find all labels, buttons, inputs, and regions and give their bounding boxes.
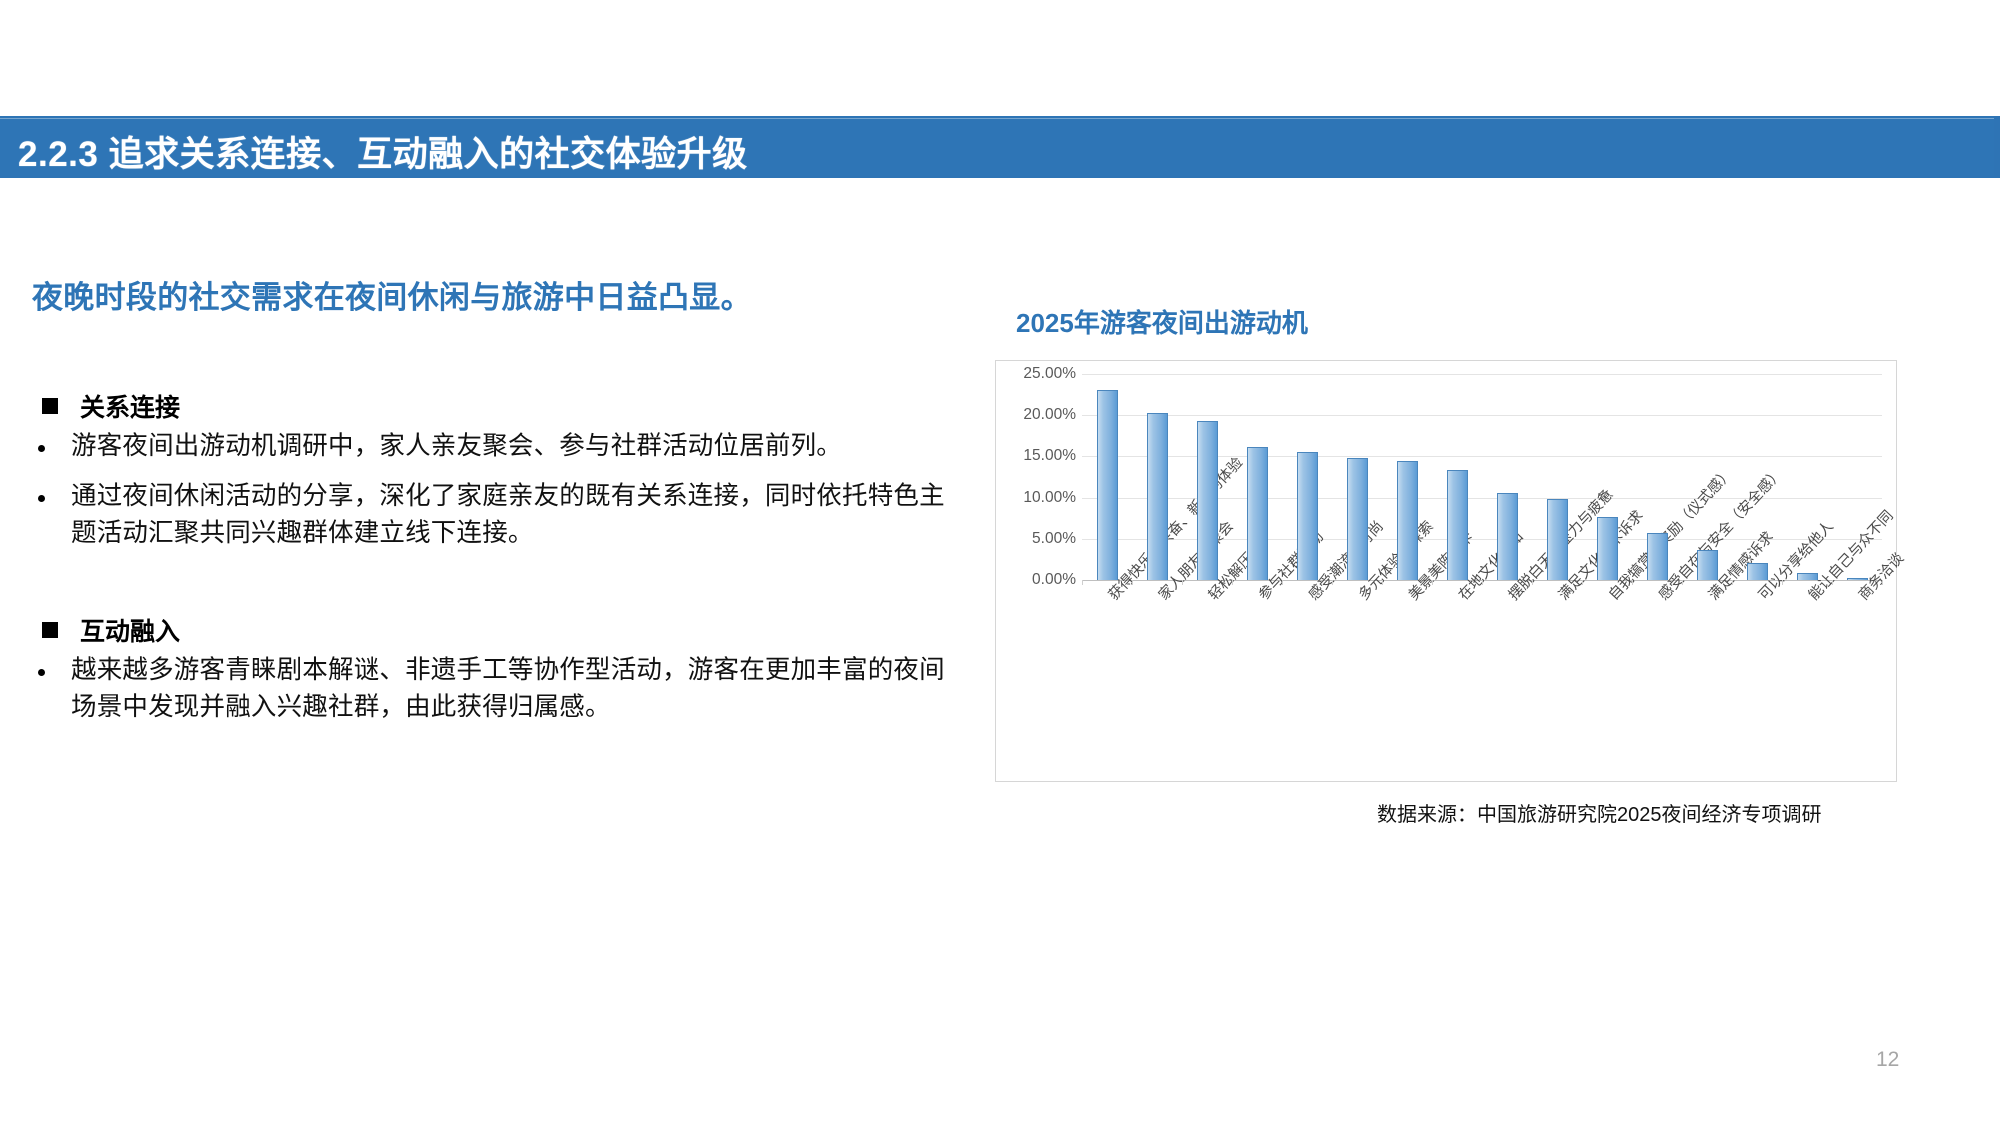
square-bullet-icon [42, 622, 58, 638]
x-axis-tick [1582, 580, 1583, 585]
page-title: 2.2.3 追求关系连接、互动融入的社交体验升级 [18, 126, 748, 177]
gridline [1082, 374, 1882, 375]
bar [1347, 458, 1368, 580]
y-axis-tick-label: 10.00% [956, 489, 1076, 507]
y-axis-tick-label: 5.00% [956, 530, 1076, 548]
x-axis-tick [1782, 580, 1783, 585]
gridline [1082, 415, 1882, 416]
bar [1697, 550, 1718, 580]
bar [1147, 413, 1168, 580]
bar [1547, 499, 1568, 580]
x-axis-tick [1482, 580, 1483, 585]
list-item: 越来越多游客青睐剧本解谜、非遗手工等协作型活动，游客在更加丰富的夜间场景中发现并… [38, 652, 968, 725]
square-bullet-icon [42, 398, 58, 414]
bar [1447, 470, 1468, 580]
x-axis-tick [1182, 580, 1183, 585]
y-axis-tick-label: 15.00% [956, 447, 1076, 465]
bar [1247, 447, 1268, 580]
dot-bullet-icon [38, 445, 45, 452]
chart-plot-area: 25.00%20.00%15.00%10.00%5.00%0.00%获得快乐、兴… [1082, 374, 1882, 580]
bar [1597, 517, 1618, 580]
dot-bullet-icon [38, 669, 45, 676]
x-axis-tick [1432, 580, 1433, 585]
x-axis-tick [1232, 580, 1233, 585]
list-item: 通过夜间休闲活动的分享，深化了家庭亲友的既有关系连接，同时依托特色主题活动汇聚共… [38, 478, 968, 551]
x-axis-tick [1732, 580, 1733, 585]
section-heading-relationship: 关系连接 [42, 388, 180, 424]
section-heading-interaction: 互动融入 [42, 612, 180, 648]
page-number: 12 [1876, 1048, 1899, 1072]
x-axis-tick [1832, 580, 1833, 585]
y-axis-tick-label: 25.00% [956, 365, 1076, 383]
bar [1647, 533, 1668, 580]
x-axis-tick [1332, 580, 1333, 585]
bar [1397, 461, 1418, 580]
x-axis-tick [1382, 580, 1383, 585]
chart-title: 2025年游客夜间出游动机 [1016, 303, 1308, 340]
list-item-text: 游客夜间出游动机调研中，家人亲友聚会、参与社群活动位居前列。 [71, 428, 842, 465]
y-axis-tick-label: 20.00% [956, 406, 1076, 424]
bar [1197, 421, 1218, 580]
x-axis-tick [1082, 580, 1083, 585]
bar [1097, 390, 1118, 580]
dot-bullet-icon [38, 495, 45, 502]
x-axis-tick [1532, 580, 1533, 585]
section-heading-label: 关系连接 [80, 388, 180, 424]
x-axis-tick [1132, 580, 1133, 585]
y-axis-tick-label: 0.00% [956, 571, 1076, 589]
x-axis-tick [1632, 580, 1633, 585]
lead-statement: 夜晚时段的社交需求在夜间休闲与旅游中日益凸显。 [32, 272, 752, 317]
x-axis-tick [1882, 580, 1883, 585]
x-axis-tick [1682, 580, 1683, 585]
list-item-text: 通过夜间休闲活动的分享，深化了家庭亲友的既有关系连接，同时依托特色主题活动汇聚共… [71, 478, 968, 551]
list-item: 游客夜间出游动机调研中，家人亲友聚会、参与社群活动位居前列。 [38, 428, 968, 465]
bar [1297, 452, 1318, 580]
section-heading-label: 互动融入 [80, 612, 180, 648]
list-item-text: 越来越多游客青睐剧本解谜、非遗手工等协作型活动，游客在更加丰富的夜间场景中发现并… [71, 652, 968, 725]
chart-source-note: 数据来源：中国旅游研究院2025夜间经济专项调研 [1377, 798, 1822, 827]
bar [1497, 493, 1518, 580]
x-axis-tick [1282, 580, 1283, 585]
